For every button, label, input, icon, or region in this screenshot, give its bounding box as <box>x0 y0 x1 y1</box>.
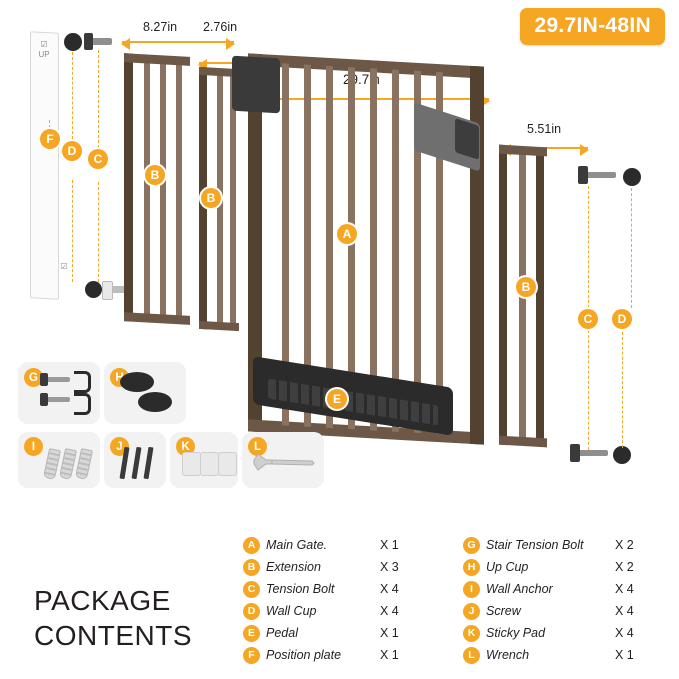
leader-d-right <box>631 188 632 308</box>
tension-bolt-top-right-knob <box>578 166 588 184</box>
callout-d-right: D <box>612 309 632 329</box>
leader-c-right-lower <box>588 330 589 450</box>
package-row-l-letter: L <box>463 647 480 664</box>
package-row-l-name: Wrench <box>486 648 615 662</box>
package-row-f: F Position plate X 1 <box>243 644 418 666</box>
callout-b-panel1-label: B <box>151 168 160 182</box>
callout-f: F <box>40 129 60 149</box>
package-row-f-name: Position plate <box>266 648 380 662</box>
up-cup-2 <box>138 392 172 412</box>
callout-b-panel3-label: B <box>522 280 531 294</box>
package-row-b-name: Extension <box>266 560 380 574</box>
callout-e-pedal: E <box>327 389 347 409</box>
package-row-a-qty: X 1 <box>380 538 418 552</box>
position-plate-marker-glyph: ☑ <box>40 40 47 49</box>
package-row-d-name: Wall Cup <box>266 604 380 618</box>
package-row-e-qty: X 1 <box>380 626 418 640</box>
accessory-letter-i-label: I <box>32 441 35 453</box>
package-contents-column-right: G Stair Tension Bolt X 2 H Up Cup X 2 I … <box>463 534 653 666</box>
package-row-j-name: Screw <box>486 604 615 618</box>
package-row-j: J Screw X 4 <box>463 600 653 622</box>
callout-d-left: D <box>62 141 82 161</box>
package-row-g-qty: X 2 <box>615 538 653 552</box>
callout-b-panel1: B <box>145 165 165 185</box>
package-row-i-qty: X 4 <box>615 582 653 596</box>
wall-cup-bottom-right <box>613 446 631 464</box>
wall-cup-top-right <box>623 168 641 186</box>
accessory-letter-g-label: G <box>29 372 38 384</box>
gate-latch-housing <box>232 56 280 114</box>
package-row-k-qty: X 4 <box>615 626 653 640</box>
leader-c-left <box>98 50 99 148</box>
package-row-f-letter: F <box>243 647 260 664</box>
callout-c-right: C <box>578 309 598 329</box>
tension-bolt-bottom-right <box>578 450 608 456</box>
package-row-g-letter: G <box>463 537 480 554</box>
package-row-e: E Pedal X 1 <box>243 622 418 644</box>
up-cup-1 <box>120 372 154 392</box>
tension-bolt-top-left-knob <box>84 33 93 50</box>
callout-b-panel2: B <box>201 188 221 208</box>
position-plate <box>30 31 59 300</box>
callout-a-main-gate: A <box>337 224 357 244</box>
position-plate-top-marker: ☑ UP <box>36 40 52 62</box>
package-row-i-letter: I <box>463 581 480 598</box>
size-range-badge: 29.7IN-48IN <box>520 8 665 45</box>
package-row-e-letter: E <box>243 625 260 642</box>
package-row-a-letter: A <box>243 537 260 554</box>
tension-bolt-bottom-left-knob <box>102 281 113 300</box>
package-row-g-name: Stair Tension Bolt <box>486 538 615 552</box>
package-contents-title: PACKAGE CONTENTS <box>34 583 192 653</box>
stair-tension-bolt-2-head <box>40 393 48 406</box>
package-row-j-qty: X 4 <box>615 604 653 618</box>
package-row-e-name: Pedal <box>266 626 380 640</box>
wrench-icon <box>252 448 318 478</box>
package-row-a: A Main Gate. X 1 <box>243 534 418 556</box>
package-row-i: I Wall Anchor X 4 <box>463 578 653 600</box>
leader-d-left <box>72 52 73 144</box>
package-row-c-qty: X 4 <box>380 582 418 596</box>
callout-c-left-label: C <box>94 152 103 166</box>
stair-bracket-2 <box>74 393 91 415</box>
callout-b-panel3: B <box>516 277 536 297</box>
package-row-c-letter: C <box>243 581 260 598</box>
position-plate-up-label: UP <box>38 50 49 59</box>
package-row-c: C Tension Bolt X 4 <box>243 578 418 600</box>
package-row-f-qty: X 1 <box>380 648 418 662</box>
tension-bolt-bottom-right-knob <box>570 444 580 462</box>
package-row-h-qty: X 2 <box>615 560 653 574</box>
dimension-line-8-27in <box>122 41 234 43</box>
package-row-g: G Stair Tension Bolt X 2 <box>463 534 653 556</box>
dimension-label-2-76in: 2.76in <box>200 20 240 34</box>
dimension-label-5-51in: 5.51in <box>524 122 564 136</box>
accessory-letter-k-label: K <box>181 441 189 453</box>
callout-c-left: C <box>88 149 108 169</box>
package-row-j-letter: J <box>463 603 480 620</box>
sticky-pad-1 <box>182 452 201 476</box>
package-row-l-qty: X 1 <box>615 648 653 662</box>
callout-a-label: A <box>343 227 352 241</box>
callout-c-right-label: C <box>584 312 593 326</box>
package-row-d-letter: D <box>243 603 260 620</box>
package-row-a-name: Main Gate. <box>266 538 380 552</box>
position-plate-bottom-marker: ☑ <box>56 262 72 276</box>
stair-tension-bolt-1-head <box>40 373 48 386</box>
package-row-h-name: Up Cup <box>486 560 615 574</box>
accessory-letter-j-label: J <box>116 441 122 453</box>
package-row-b-letter: B <box>243 559 260 576</box>
package-row-b: B Extension X 3 <box>243 556 418 578</box>
package-row-d: D Wall Cup X 4 <box>243 600 418 622</box>
sticky-pad-3 <box>218 452 237 476</box>
wall-cup-top-left <box>64 33 82 51</box>
callout-f-label: F <box>46 132 53 146</box>
package-row-d-qty: X 4 <box>380 604 418 618</box>
package-row-c-name: Tension Bolt <box>266 582 380 596</box>
leader-d-left-lower <box>72 180 73 282</box>
callout-d-right-label: D <box>618 312 627 326</box>
stair-bracket-1 <box>74 371 91 393</box>
callout-e-label: E <box>333 392 341 406</box>
wall-cup-bottom-left <box>85 281 102 298</box>
accessory-letter-i: I <box>24 437 43 456</box>
position-plate-marker-glyph-2: ☑ <box>60 262 67 271</box>
leader-d-right-lower <box>622 332 623 448</box>
package-row-k: K Sticky Pad X 4 <box>463 622 653 644</box>
callout-d-left-label: D <box>68 144 77 158</box>
package-contents-column-left: A Main Gate. X 1 B Extension X 3 C Tensi… <box>243 534 418 666</box>
tension-bolt-top-right <box>586 172 616 178</box>
package-title-line1: PACKAGE <box>34 583 192 618</box>
dimension-label-8-27in: 8.27in <box>140 20 180 34</box>
package-row-l: L Wrench X 1 <box>463 644 653 666</box>
package-row-i-name: Wall Anchor <box>486 582 615 596</box>
sticky-pad-2 <box>200 452 219 476</box>
package-row-k-letter: K <box>463 625 480 642</box>
extension-panel-1 <box>124 53 190 325</box>
package-row-h: H Up Cup X 2 <box>463 556 653 578</box>
callout-b-panel2-label: B <box>207 191 216 205</box>
package-row-h-letter: H <box>463 559 480 576</box>
leader-c-left-lower <box>98 182 99 282</box>
package-row-b-qty: X 3 <box>380 560 418 574</box>
size-range-badge-label: 29.7IN-48IN <box>534 14 651 37</box>
leader-c-right <box>588 186 589 308</box>
package-title-line2: CONTENTS <box>34 618 192 653</box>
package-row-k-name: Sticky Pad <box>486 626 615 640</box>
